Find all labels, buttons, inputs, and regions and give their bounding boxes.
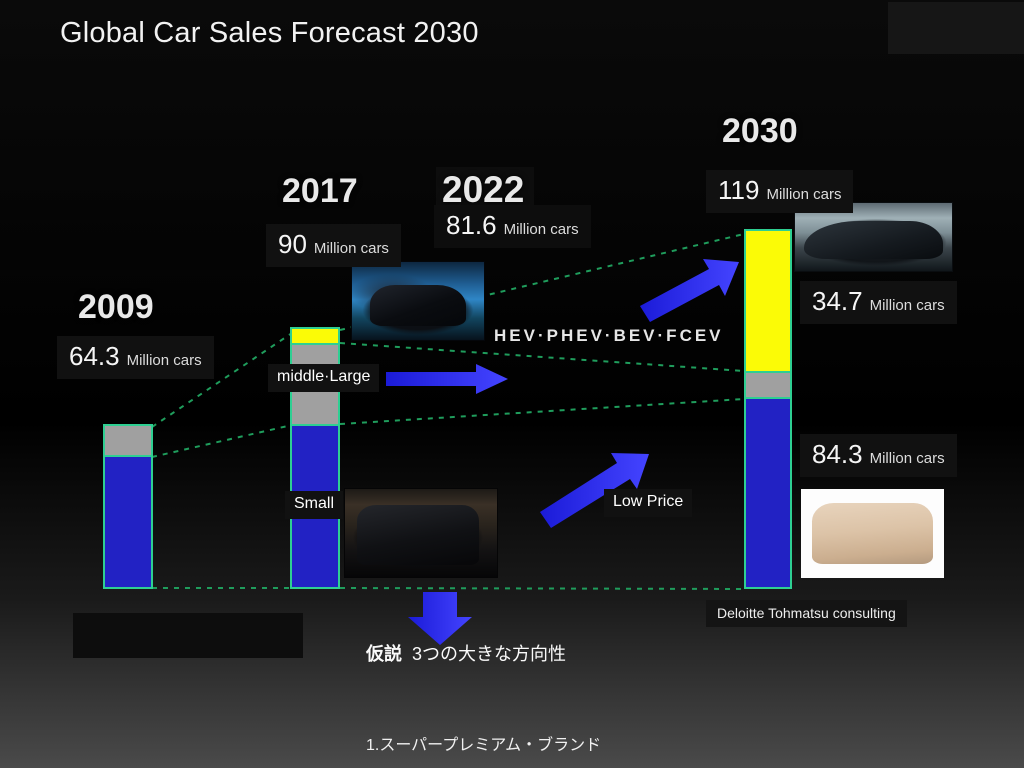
source-credit: Deloitte Tohmatsu consulting (706, 600, 907, 627)
label-low-price: Low Price (604, 489, 692, 517)
bar-2017-segment-hev (292, 329, 338, 343)
value-small-2030: 84.3 (812, 439, 863, 470)
year-label-2009: 2009 (78, 288, 154, 327)
year-label-2017: 2017 (282, 172, 358, 211)
value-2009: 64.3 (69, 341, 120, 372)
value-chip-2022: 81.6 Million cars (434, 205, 591, 248)
photo-sports-coupe (795, 203, 952, 271)
value-chip-hev-2030: 34.7 Million cars (800, 281, 957, 324)
value-chip-2009: 64.3 Million cars (57, 336, 214, 379)
arrow-down-conclusion (408, 592, 472, 645)
label-small: Small (285, 491, 343, 519)
value-2017: 90 (278, 229, 307, 260)
value-2022: 81.6 (446, 210, 497, 241)
footer-list-item: 1.スーパープレミアム・ブランド (366, 734, 643, 757)
label-hev-phev-bev-fcev: HEV·PHEV·BEV·FCEV (494, 326, 724, 346)
label-middle-large: middle·Large (268, 364, 379, 392)
arrow-middle-large (386, 364, 508, 394)
year-label-2030: 2030 (722, 112, 798, 151)
value-chip-2017: 90 Million cars (266, 224, 401, 267)
unit-2022: Million cars (504, 221, 579, 238)
value-chip-small-2030: 84.3 Million cars (800, 434, 957, 477)
bar-2009-segment-middle-large (105, 426, 151, 457)
photo-electric-suv (352, 262, 484, 340)
unit-2009: Million cars (127, 352, 202, 369)
unit-2030: Million cars (766, 186, 841, 203)
footer-list: 1.スーパープレミアム・ブランド 2. グローバル・プレイヤー 3. グローバル… (366, 688, 643, 768)
bar-2030-segment-hev (746, 231, 790, 371)
slide-canvas: Global Car Sales Forecast 2030 (0, 0, 1024, 768)
photo-kei-car-beige (801, 489, 944, 578)
value-2030: 119 (718, 175, 759, 206)
photo-kei-car-black (345, 489, 497, 577)
bar-2030 (744, 229, 792, 589)
unit-2017: Million cars (314, 240, 389, 257)
bar-2030-segment-small (746, 399, 790, 587)
footer-headline-bold: 仮説 (366, 644, 402, 664)
bar-2009 (103, 424, 153, 589)
unit-small-2030: Million cars (870, 450, 945, 467)
unit-hev-2030: Million cars (870, 297, 945, 314)
empty-placeholder-box (73, 613, 303, 658)
bar-2009-segment-small (105, 457, 151, 587)
footer-headline-rest: 3つの大きな方向性 (412, 644, 566, 664)
value-chip-2030: 119 Million cars (706, 170, 853, 213)
footer-headline: 仮説 3つの大きな方向性 (366, 640, 566, 666)
bar-2030-segment-middle-large (746, 371, 790, 399)
arrow-hev-growth (640, 259, 739, 322)
value-hev-2030: 34.7 (812, 286, 863, 317)
